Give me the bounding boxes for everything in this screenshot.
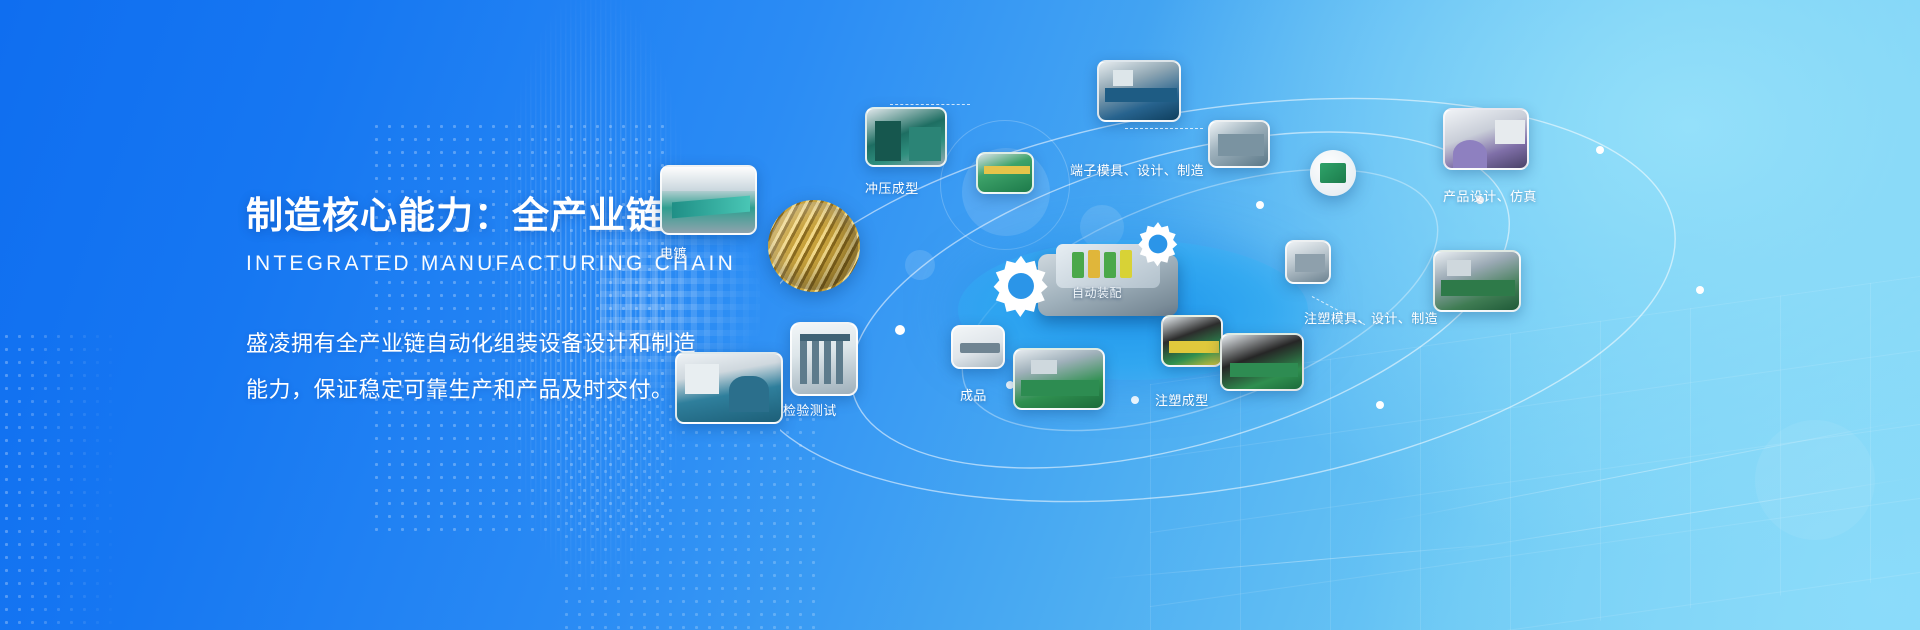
page-title: 制造核心能力：全产业链 bbox=[246, 185, 716, 239]
finished-product-thumbnail[interactable] bbox=[951, 325, 1005, 369]
page-description: 盛凌拥有全产业链自动化组装设备设计和制造能力，保证稳定可靠生产和产品及时交付。 bbox=[246, 321, 716, 413]
copper-coil-shading bbox=[770, 202, 858, 290]
process-diagram: 自动装配 电镀 冲压成型 bbox=[780, 0, 1920, 630]
finished-product-label: 成品 bbox=[960, 385, 987, 404]
injection-molding-thumbnail-2[interactable] bbox=[1220, 333, 1304, 391]
product-design-icon-bubble[interactable] bbox=[1310, 150, 1356, 196]
product-design-thumbnail[interactable] bbox=[1443, 108, 1529, 170]
copy-block: 制造核心能力：全产业链 INTEGRATED MANUFACTURING CHA… bbox=[246, 185, 716, 413]
pcb-thumbnail[interactable] bbox=[976, 152, 1034, 194]
inspection-rack-thumbnail[interactable] bbox=[790, 322, 858, 396]
injection-molding-thumbnail[interactable] bbox=[1161, 315, 1223, 367]
injection-molding-label: 注塑成型 bbox=[1155, 390, 1209, 409]
page-subtitle: INTEGRATED MANUFACTURING CHAIN bbox=[246, 252, 716, 276]
terminal-mold-dash-connector bbox=[1125, 128, 1203, 129]
injection-mold-label: 注塑模具、设计、制造 bbox=[1304, 308, 1438, 327]
decor-dot-grid-left bbox=[0, 330, 120, 630]
electroplating-label: 电镀 bbox=[660, 243, 687, 262]
inspection-testing-thumbnail[interactable] bbox=[675, 352, 783, 424]
stamping-dash-connector bbox=[890, 104, 970, 105]
inspection-testing-label: 检验测试 bbox=[783, 400, 837, 419]
product-design-label: 产品设计、仿真 bbox=[1443, 186, 1537, 205]
gear-icon-left bbox=[985, 250, 1057, 322]
stamping-forming-thumbnail[interactable] bbox=[865, 107, 947, 167]
injection-mold-thumbnail[interactable] bbox=[1433, 250, 1521, 312]
terminal-mold-thumbnail[interactable] bbox=[1097, 60, 1181, 122]
gear-icon-right bbox=[1132, 218, 1184, 270]
electroplating-thumbnail[interactable] bbox=[660, 165, 757, 235]
injection-mold-thumbnail-small[interactable] bbox=[1285, 240, 1331, 284]
manufacturing-chain-banner: 制造核心能力：全产业链 INTEGRATED MANUFACTURING CHA… bbox=[0, 0, 1920, 630]
terminal-mold-thumbnail-2[interactable] bbox=[1208, 120, 1270, 168]
finished-product-line-thumbnail[interactable] bbox=[1013, 348, 1105, 410]
terminal-mold-label: 端子模具、设计、制造 bbox=[1070, 160, 1204, 179]
hub-label: 自动装配 bbox=[1072, 284, 1122, 301]
stamping-forming-label: 冲压成型 bbox=[865, 178, 919, 197]
